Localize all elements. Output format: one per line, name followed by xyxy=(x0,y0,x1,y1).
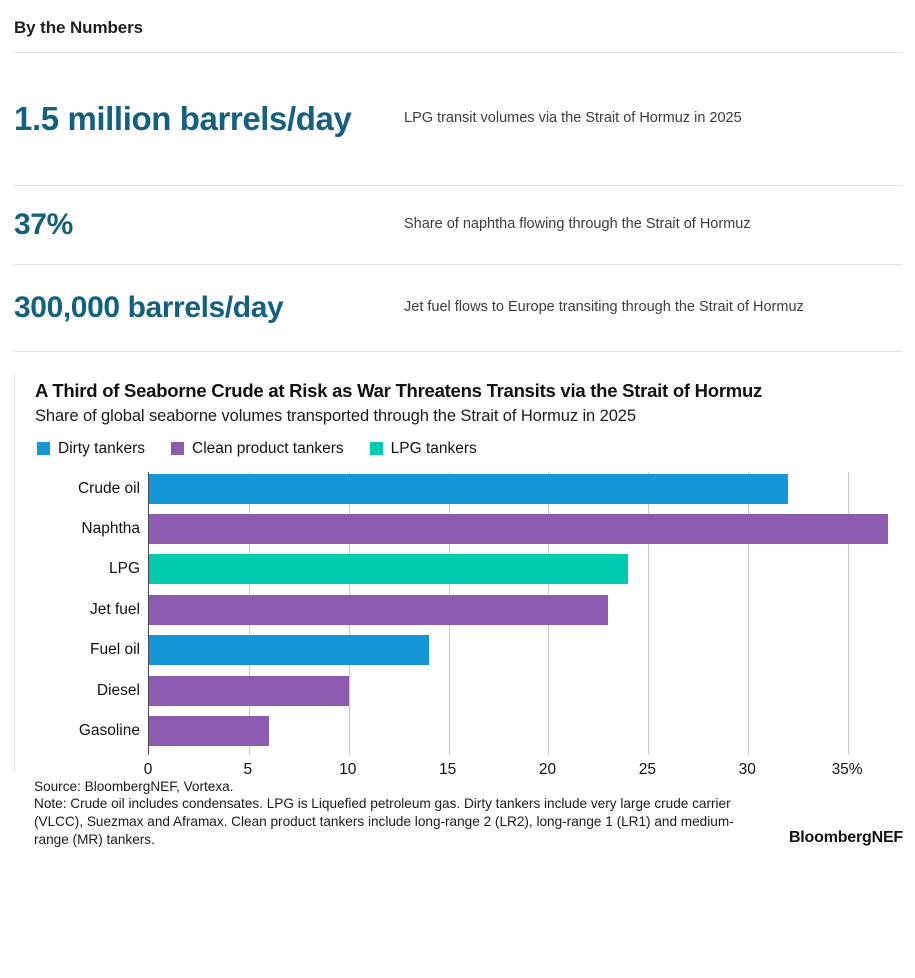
x-axis-tick-label: 20 xyxy=(539,761,556,779)
bar-row: Fuel oil xyxy=(149,635,903,665)
legend-item[interactable]: Clean product tankers xyxy=(171,440,344,458)
stat-value: 300,000 barrels/day xyxy=(14,291,404,326)
stat-description: Jet fuel flows to Europe transiting thro… xyxy=(404,297,864,319)
legend-label: LPG tankers xyxy=(391,440,477,458)
bar[interactable] xyxy=(149,554,628,584)
bar-row: Crude oil xyxy=(149,474,903,504)
bar-row: Diesel xyxy=(149,676,903,706)
x-axis-tick-label: 35% xyxy=(832,761,863,779)
stat-description: Share of naphtha flowing through the Str… xyxy=(404,214,864,236)
bar-row: LPG xyxy=(149,554,903,584)
bar[interactable] xyxy=(149,595,608,625)
footnotes: Source: BloombergNEF, Vortexa. Note: Cru… xyxy=(34,778,754,849)
x-axis-tick-label: 5 xyxy=(244,761,253,779)
bar[interactable] xyxy=(149,635,429,665)
legend-label: Dirty tankers xyxy=(58,440,145,458)
stat-value: 1.5 million barrels/day xyxy=(14,100,404,138)
category-label: Jet fuel xyxy=(0,601,140,619)
bar-row: Naphtha xyxy=(149,514,903,544)
legend-swatch-icon xyxy=(171,442,184,455)
x-axis-tick-label: 10 xyxy=(339,761,356,779)
bar-row: Gasoline xyxy=(149,716,903,746)
legend-item[interactable]: Dirty tankers xyxy=(37,440,145,458)
legend-label: Clean product tankers xyxy=(192,440,344,458)
chart-legend: Dirty tankersClean product tankersLPG ta… xyxy=(35,440,903,458)
source-text: Source: BloombergNEF, Vortexa. xyxy=(34,778,754,796)
stat-row: 37% Share of naphtha flowing through the… xyxy=(0,186,915,264)
stat-row: 1.5 million barrels/day LPG transit volu… xyxy=(0,53,915,185)
stat-value: 37% xyxy=(14,208,404,243)
category-label: Crude oil xyxy=(0,480,140,498)
bar[interactable] xyxy=(149,474,788,504)
x-axis-tick-label: 0 xyxy=(144,761,153,779)
category-label: Naphtha xyxy=(0,520,140,538)
stat-row: 300,000 barrels/day Jet fuel flows to Eu… xyxy=(0,265,915,351)
chart-plot-area: Crude oilNaphthaLPGJet fuelFuel oilDiese… xyxy=(35,472,903,772)
chart-subtitle: Share of global seaborne volumes transpo… xyxy=(35,406,903,427)
bar[interactable] xyxy=(149,514,888,544)
chart-footer: Source: BloombergNEF, Vortexa. Note: Cru… xyxy=(14,778,903,849)
bar[interactable] xyxy=(149,716,269,746)
bar-row: Jet fuel xyxy=(149,595,903,625)
bar-plot: Crude oilNaphthaLPGJet fuelFuel oilDiese… xyxy=(148,472,903,755)
legend-swatch-icon xyxy=(370,442,383,455)
x-axis-tick-label: 30 xyxy=(739,761,756,779)
category-label: LPG xyxy=(0,560,140,578)
legend-item[interactable]: LPG tankers xyxy=(370,440,477,458)
x-axis-tick-label: 25 xyxy=(639,761,656,779)
category-label: Diesel xyxy=(0,682,140,700)
stat-description: LPG transit volumes via the Strait of Ho… xyxy=(404,108,864,130)
legend-swatch-icon xyxy=(37,442,50,455)
chart-card: A Third of Seaborne Crude at Risk as War… xyxy=(14,374,903,772)
x-axis-tick-label: 15 xyxy=(439,761,456,779)
note-text: Note: Crude oil includes condensates. LP… xyxy=(34,795,754,848)
chart-title: A Third of Seaborne Crude at Risk as War… xyxy=(35,380,895,403)
bar-series: Crude oilNaphthaLPGJet fuelFuel oilDiese… xyxy=(149,472,903,755)
brand-logo: BloombergNEF xyxy=(789,829,903,848)
divider xyxy=(14,351,903,352)
category-label: Fuel oil xyxy=(0,641,140,659)
by-the-numbers-page: By the Numbers 1.5 million barrels/day L… xyxy=(0,0,915,978)
category-label: Gasoline xyxy=(0,722,140,740)
page-title: By the Numbers xyxy=(0,0,915,52)
bar[interactable] xyxy=(149,676,349,706)
